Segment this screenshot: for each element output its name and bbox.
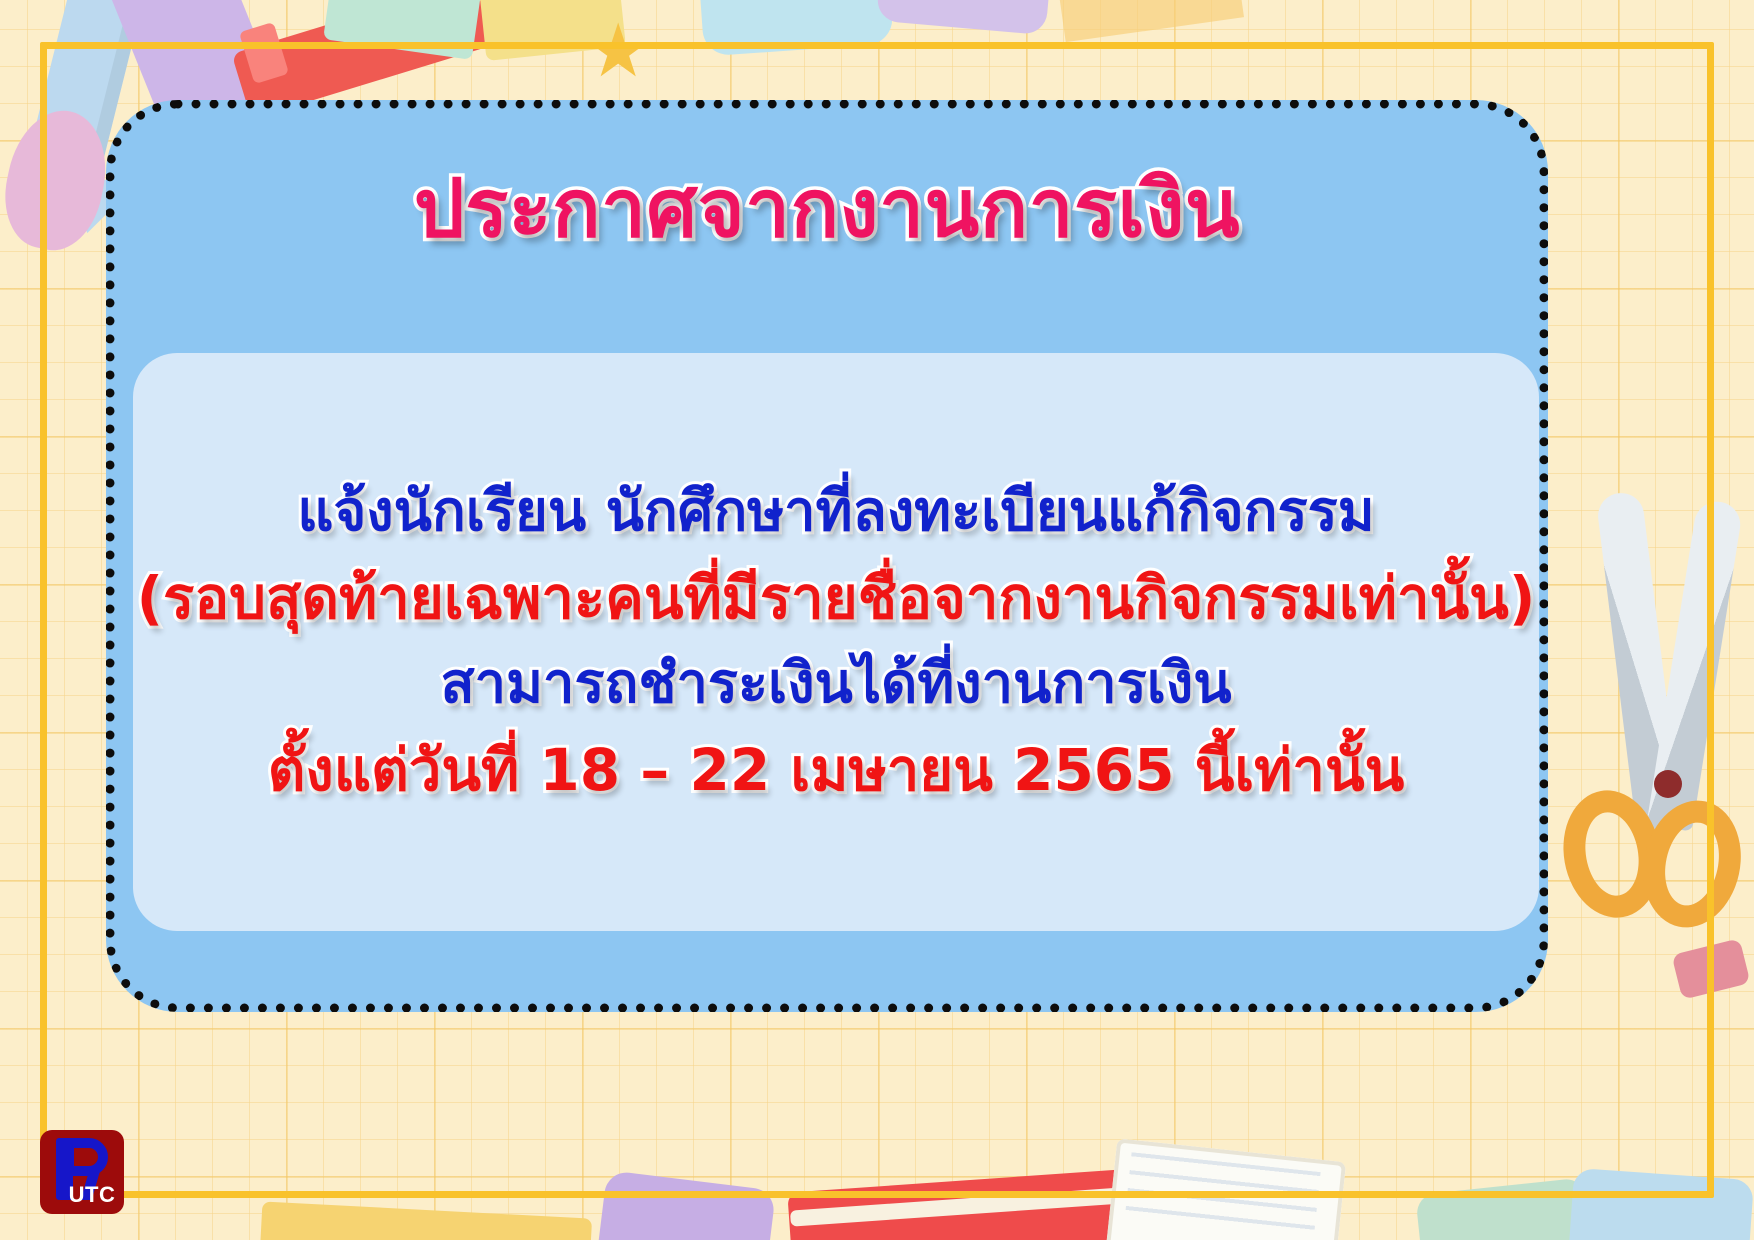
announcement-line-1: แจ้งนักเรียน นักศึกษาที่ลงทะเบียนแก้กิจก… [297,481,1374,544]
utc-logo: UTC [40,1130,124,1214]
logo-abbreviation: UTC [40,1184,124,1206]
announcement-line-4: ตั้งแต่วันที่ 18 – 22 เมษายน 2565 นี้เท่… [268,738,1405,803]
logo-letter-r-bowl-icon [64,1138,108,1176]
announcement-card: ประกาศจากงานการเงิน แจ้งนักเรียน นักศึกษ… [106,100,1548,1012]
announcement-body: แจ้งนักเรียน นักศึกษาที่ลงทะเบียนแก้กิจก… [133,353,1539,931]
announcement-poster: ★ ประกาศจากงานการเงิน แจ้งนักเรียน นักศึ… [0,0,1754,1240]
announcement-line-2: (รอบสุดท้ายเฉพาะคนที่มีรายชื่อจากงานกิจก… [137,566,1536,631]
announcement-line-3: สามารถชำระเงินได้ที่งานการเงิน [440,653,1231,716]
page-title: ประกาศจากงานการเงิน [115,167,1539,251]
